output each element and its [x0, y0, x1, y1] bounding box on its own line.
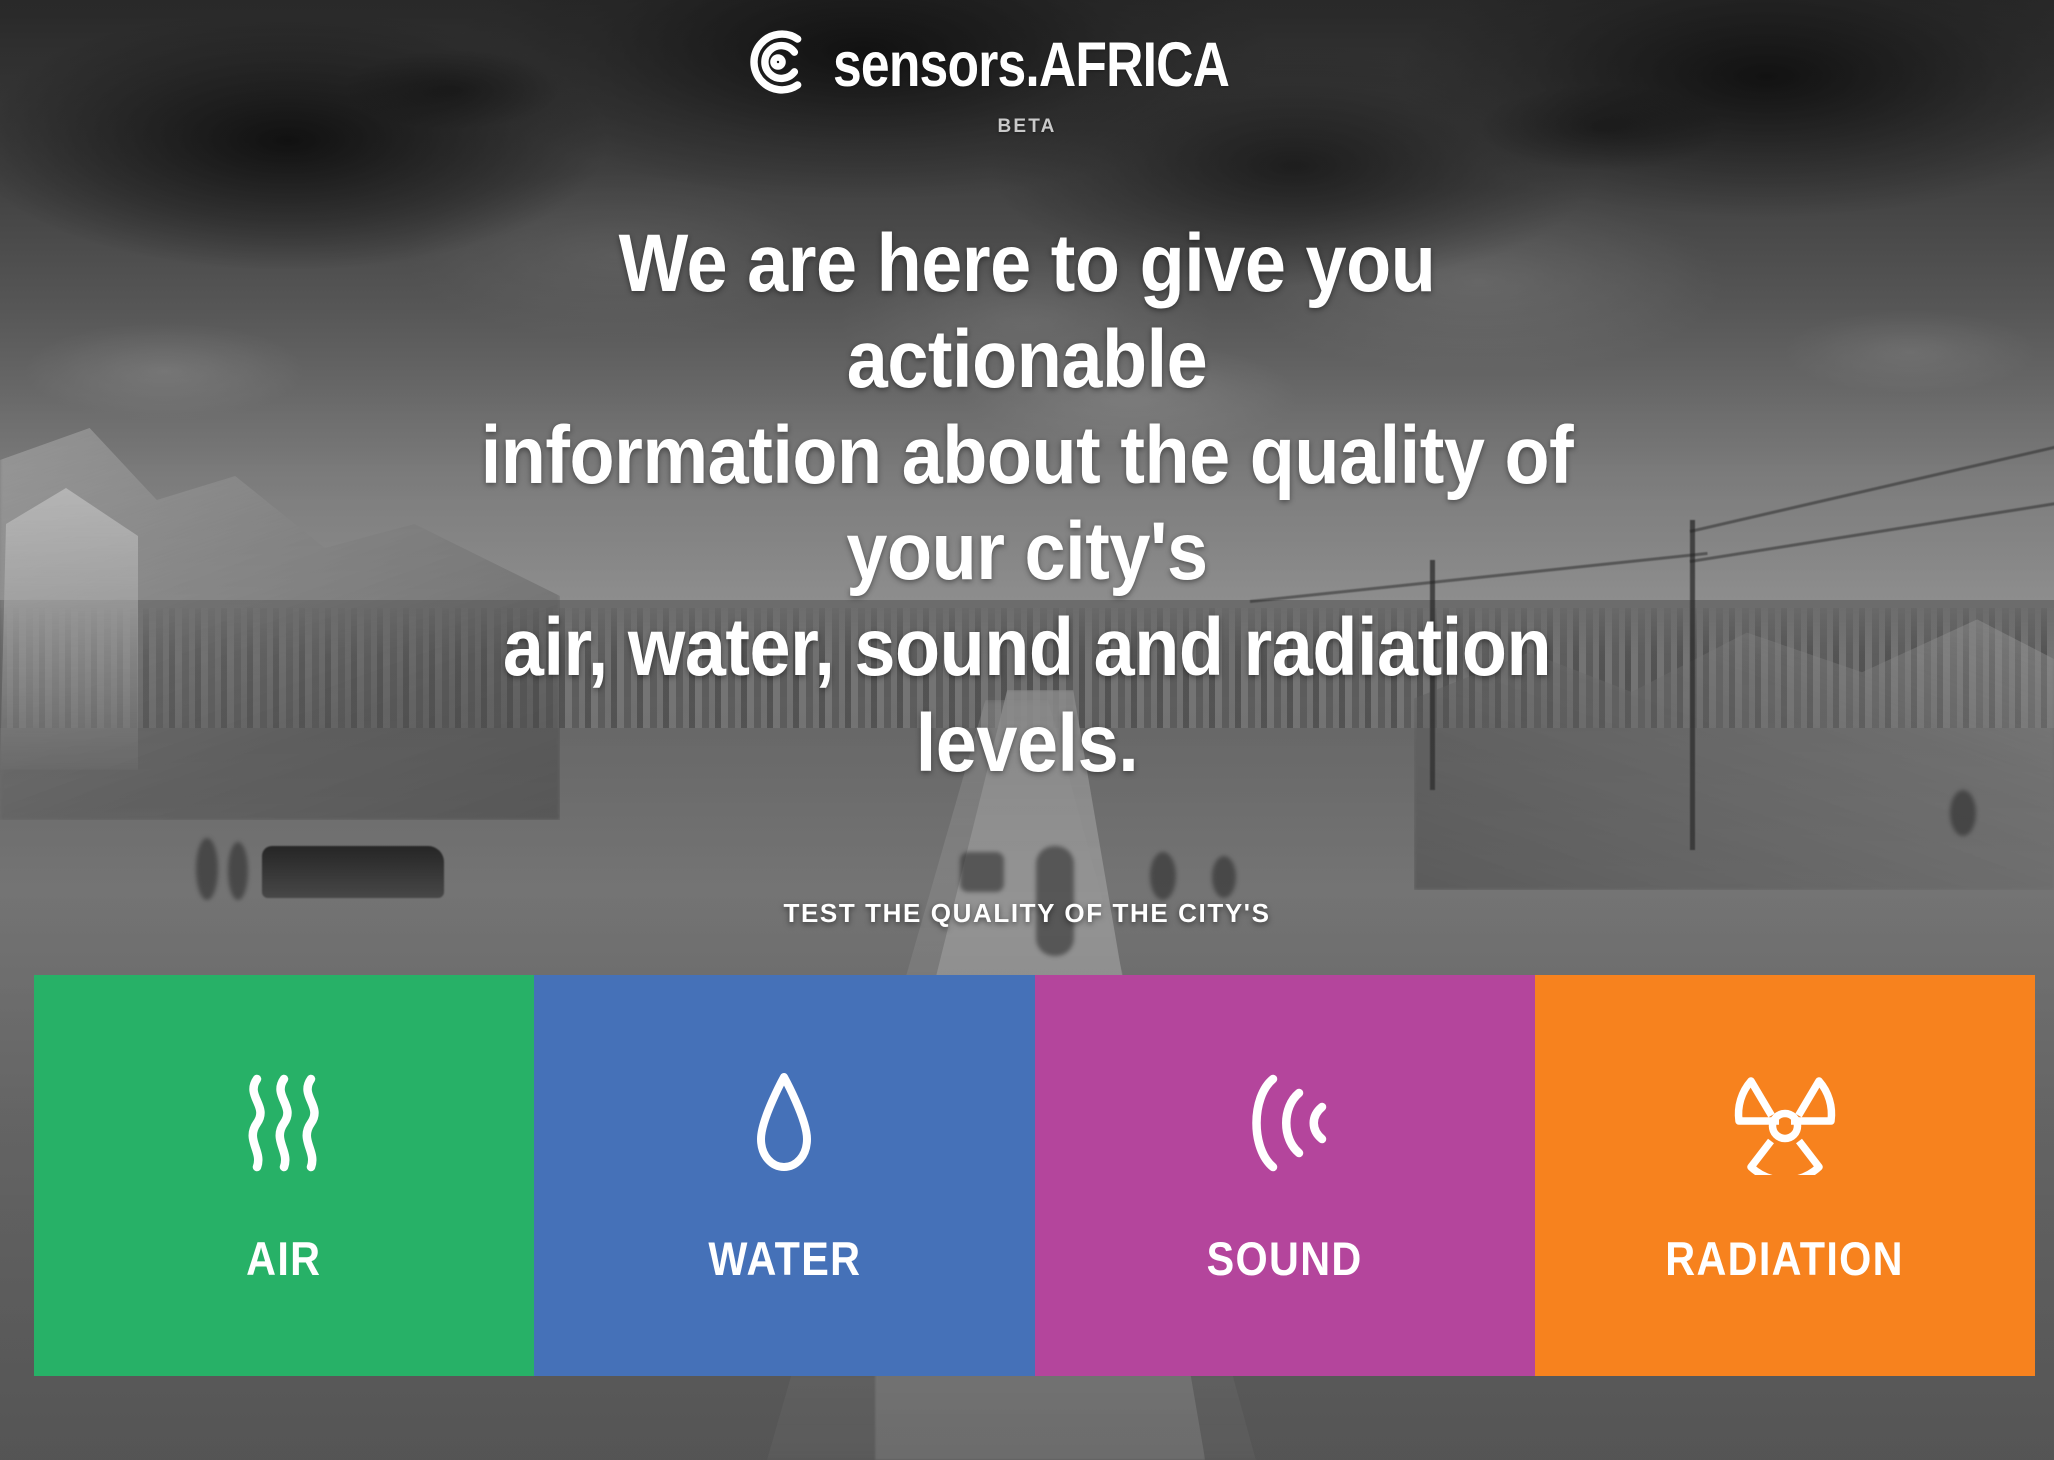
site-logo[interactable]: sensors.AFRICA — [737, 6, 1316, 124]
page-root: sensors.AFRICA BETA We are here to give … — [0, 0, 2054, 1460]
headline-line-1: We are here to give you actionable — [429, 216, 1626, 408]
headline-line-2: information about the quality of your ci… — [429, 408, 1626, 600]
beta-badge: BETA — [997, 116, 1056, 138]
hero-headline: We are here to give you actionable infor… — [362, 216, 1692, 792]
headline-line-3: air, water, sound and radiation levels. — [429, 600, 1626, 792]
hero-subhead: TEST THE QUALITY OF THE CITY'S — [0, 898, 2054, 929]
sensors-spiral-icon — [737, 21, 819, 103]
hero-content: sensors.AFRICA BETA We are here to give … — [0, 0, 2054, 1460]
brand-wordmark: sensors.AFRICA — [833, 34, 1229, 97]
